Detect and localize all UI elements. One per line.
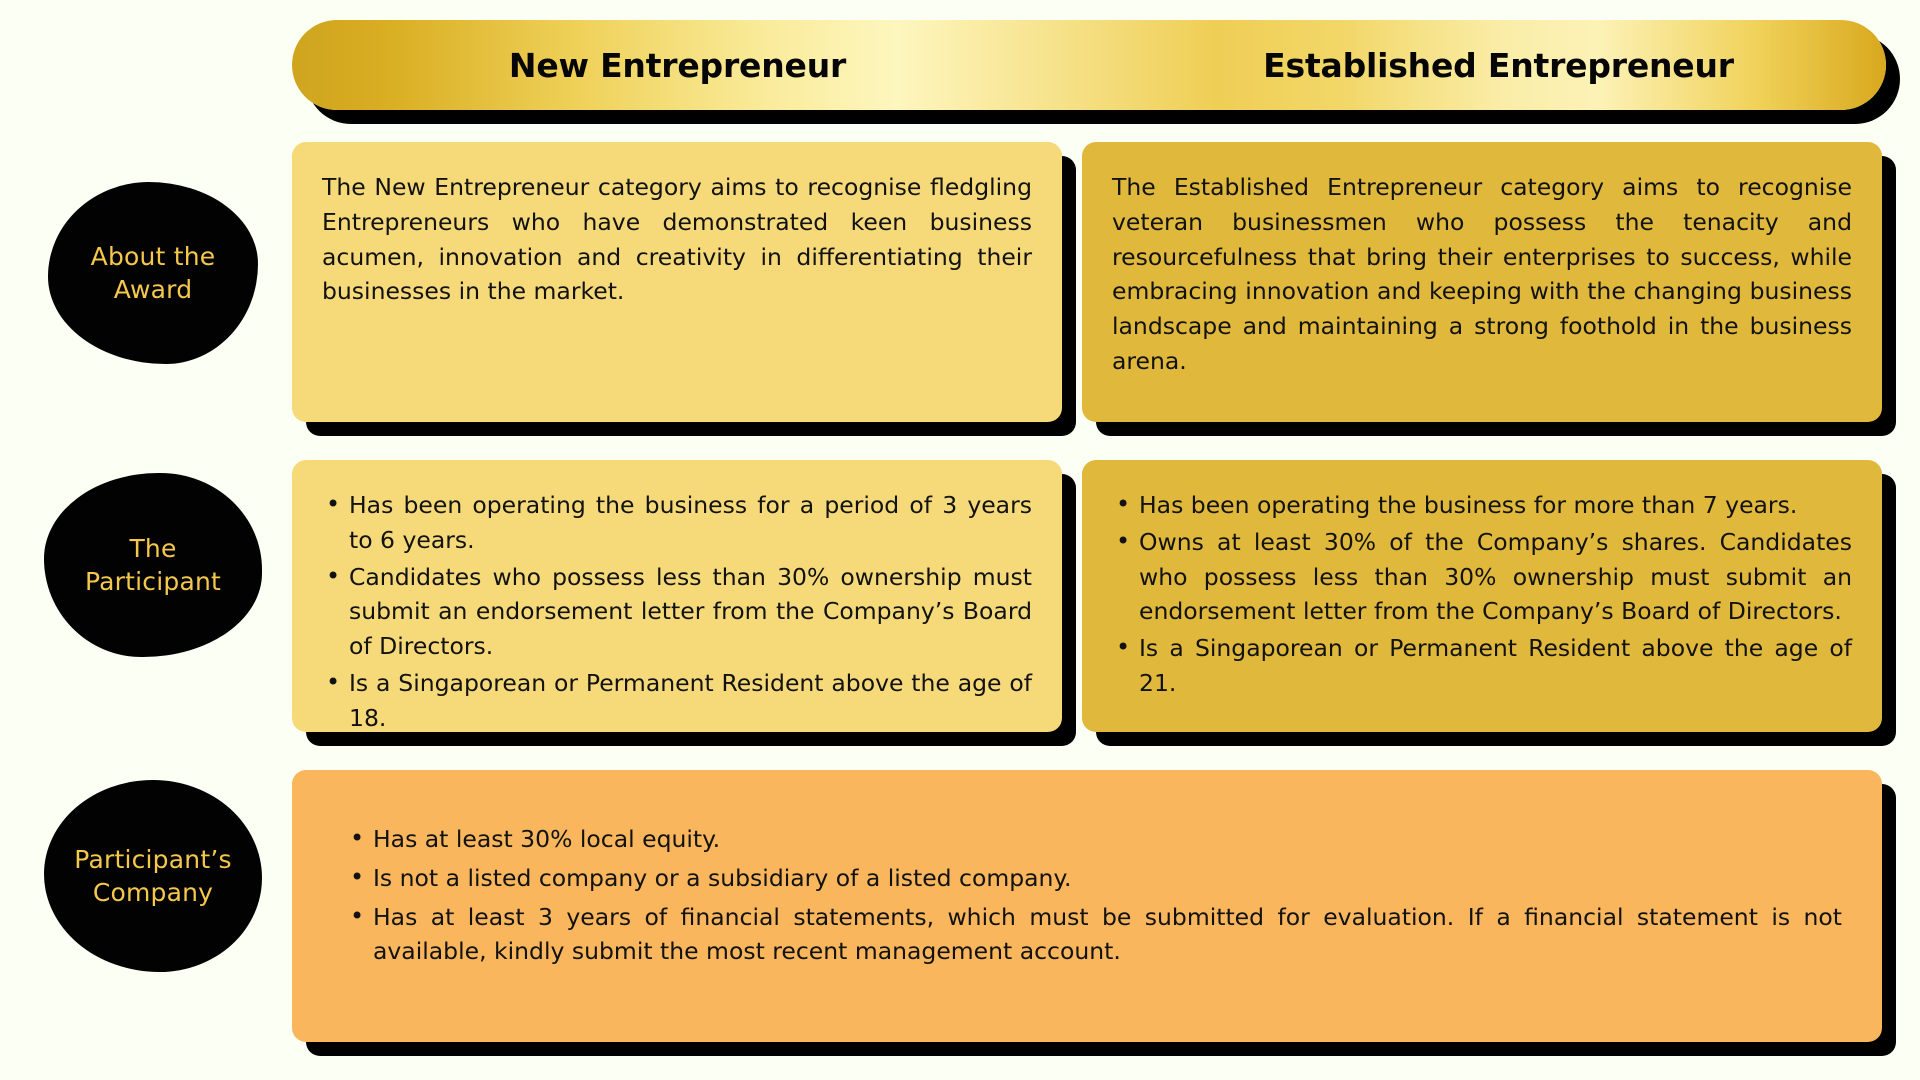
list-item: Has been operating the business for a pe… (322, 488, 1032, 558)
bullet-list: Has at least 30% local equity. Is not a … (342, 822, 1842, 969)
card-paragraph: The Established Entrepreneur category ai… (1112, 170, 1852, 379)
card-participants-company-combined: Has at least 30% local equity. Is not a … (292, 770, 1882, 1042)
badge-label-line-1: Participant’s (74, 843, 231, 876)
badge-label-line-2: Company (93, 876, 213, 909)
infographic-root: New Entrepreneur Established Entrepreneu… (0, 0, 1920, 1080)
list-item: Has at least 3 years of financial statem… (342, 900, 1842, 970)
card-about-new-entrepreneur: The New Entrepreneur category aims to re… (292, 142, 1062, 422)
bullet-list: Has been operating the business for more… (1112, 488, 1852, 701)
badge-label-line-1: About the (91, 240, 216, 273)
badge-label-line-2: Participant (85, 565, 221, 598)
bullet-list: Has been operating the business for a pe… (322, 488, 1032, 732)
badge-label-line-2: Award (114, 273, 193, 306)
list-item: Owns at least 30% of the Company’s share… (1112, 525, 1852, 629)
list-item: Has at least 30% local equity. (342, 822, 1842, 857)
card-participant-new-entrepreneur: Has been operating the business for a pe… (292, 460, 1062, 732)
header-column-new-entrepreneur: New Entrepreneur (292, 46, 1089, 85)
card-paragraph: The New Entrepreneur category aims to re… (322, 170, 1032, 309)
card-about-established-entrepreneur: The Established Entrepreneur category ai… (1082, 142, 1882, 422)
header-column-established-entrepreneur: Established Entrepreneur (1089, 46, 1886, 85)
list-item: Candidates who possess less than 30% own… (322, 560, 1032, 664)
list-item: Is a Singaporean or Permanent Resident a… (1112, 631, 1852, 701)
list-item: Is a Singaporean or Permanent Resident a… (322, 666, 1032, 732)
badge-label-line-1: The (129, 532, 176, 565)
list-item: Has been operating the business for more… (1112, 488, 1852, 523)
category-header-banner: New Entrepreneur Established Entrepreneu… (292, 20, 1886, 110)
row-badge-about-the-award: About the Award (48, 182, 258, 364)
card-participant-established-entrepreneur: Has been operating the business for more… (1082, 460, 1882, 732)
list-item: Is not a listed company or a subsidiary … (342, 861, 1842, 896)
row-badge-the-participant: The Participant (44, 473, 262, 657)
row-badge-participants-company: Participant’s Company (44, 780, 262, 972)
